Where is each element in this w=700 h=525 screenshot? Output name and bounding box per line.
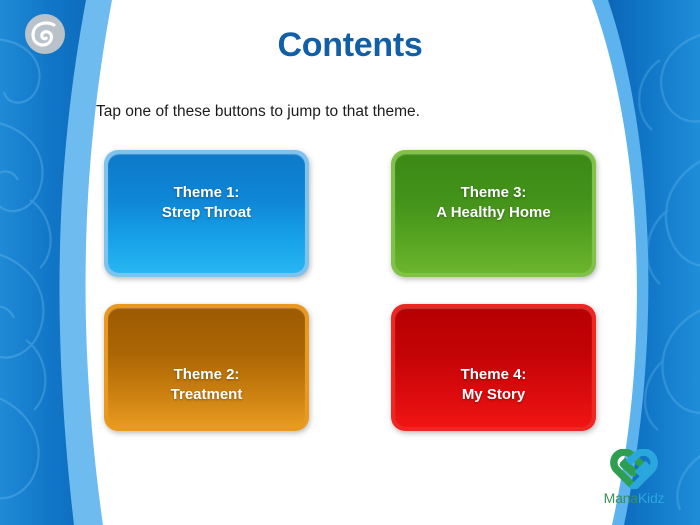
- logo-word-kidz: Kidz: [638, 490, 664, 506]
- slide-root: Contents Tap one of these buttons to jum…: [0, 0, 700, 525]
- manakidz-heart-logo: [610, 449, 658, 489]
- theme-button-line2: Strep Throat: [162, 204, 251, 221]
- theme-button-inner: Theme 4: My Story: [395, 308, 592, 427]
- theme-button-line1: Theme 3:: [461, 184, 527, 201]
- theme-button-my-story[interactable]: Theme 4: My Story: [391, 304, 596, 431]
- left-light-band: [0, 0, 112, 525]
- theme-button-label: Theme 1: Strep Throat: [162, 183, 251, 223]
- theme-button-line1: Theme 4:: [461, 366, 527, 383]
- theme-button-row-bottom: Theme 2: Treatment Theme 4: My Story: [104, 304, 596, 431]
- koru-spiral-icon: [24, 13, 66, 55]
- theme-button-line1: Theme 2:: [174, 366, 240, 383]
- right-light-band: [592, 0, 700, 525]
- left-dark-band: [0, 0, 86, 525]
- theme-button-line2: Treatment: [171, 386, 243, 403]
- theme-button-inner: Theme 1: Strep Throat: [108, 154, 305, 273]
- theme-button-inner: Theme 3: A Healthy Home: [395, 154, 592, 273]
- theme-button-label: Theme 4: My Story: [461, 365, 527, 405]
- logo-word-mana: Mana: [604, 490, 638, 506]
- theme-button-a-healthy-home[interactable]: Theme 3: A Healthy Home: [391, 150, 596, 277]
- right-dark-band: [608, 0, 700, 525]
- manakidz-wordmark: ManaKidz: [596, 490, 672, 506]
- theme-button-strep-throat[interactable]: Theme 1: Strep Throat: [104, 150, 309, 277]
- theme-button-inner: Theme 2: Treatment: [108, 308, 305, 427]
- right-koru-pattern: [639, 30, 700, 510]
- theme-button-line1: Theme 1:: [174, 184, 240, 201]
- theme-button-treatment[interactable]: Theme 2: Treatment: [104, 304, 309, 431]
- theme-button-label: Theme 2: Treatment: [171, 365, 243, 405]
- manakidz-logo: ManaKidz: [596, 449, 672, 506]
- left-koru-pattern: [0, 39, 51, 522]
- theme-button-label: Theme 3: A Healthy Home: [436, 183, 550, 223]
- theme-button-line2: A Healthy Home: [436, 204, 550, 221]
- page-title: Contents: [0, 26, 700, 65]
- theme-button-row-top: Theme 1: Strep Throat Theme 3: A Healthy…: [104, 150, 596, 277]
- theme-button-grid: Theme 1: Strep Throat Theme 3: A Healthy…: [104, 150, 596, 431]
- instruction-text: Tap one of these buttons to jump to that…: [96, 103, 420, 121]
- theme-button-line2: My Story: [462, 386, 525, 403]
